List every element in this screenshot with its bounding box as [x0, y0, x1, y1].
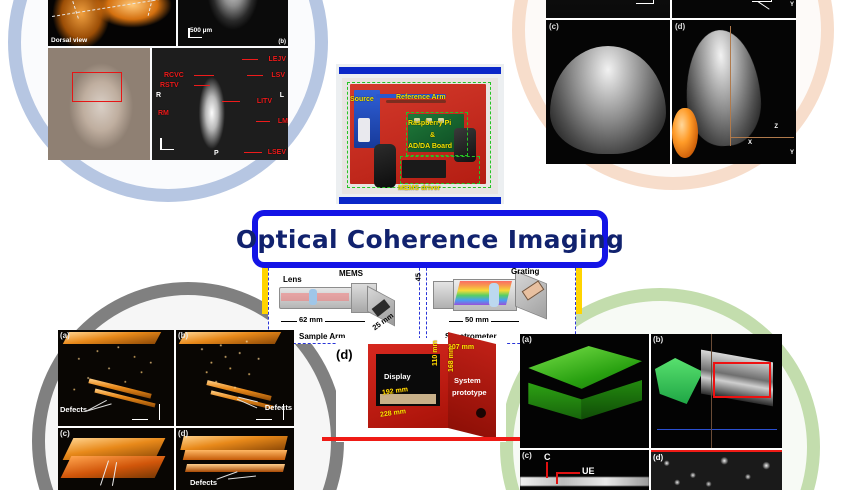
vessel-label-rstv: RSTV — [160, 82, 179, 89]
defects-volume-d: Defects (d) — [176, 428, 294, 490]
defects-inspection-figure: Defects (a) Defects (b) (c) — [58, 330, 294, 490]
source-annotation: Source — [350, 96, 374, 103]
oct-engine-photo: Source Reference Arm Raspberry Pi & AD/D… — [336, 64, 504, 204]
tissue-enface-speckle: (d) — [651, 450, 782, 490]
vascular-angiography: LEJV LSV RCVC RSTV LITV LM LSEV RM R L P — [152, 48, 288, 160]
vessel-label-lsv: LSV — [271, 72, 285, 79]
nail-bscan-labeled: Intermediate ventral Lunula Free Edge — [546, 0, 670, 18]
prototype-panel-label: (d) — [336, 348, 353, 361]
lens-label: Lens — [283, 275, 302, 284]
nail-3d-render: Z X Y (d) — [672, 20, 796, 164]
spectrometer-length-dim: 50 mm — [463, 315, 491, 324]
c-annotation: C — [544, 452, 551, 462]
scale-bar-label: 500 µm — [190, 28, 212, 35]
raspberry-pi-annotation: Raspberry Pi — [408, 120, 451, 127]
bl-panel-c-label: (c) — [60, 429, 70, 438]
tissue-3d-figure: (a) (b) (c) C UE (d) — [520, 334, 782, 490]
panel-c-label: (c) — [549, 23, 559, 31]
spectrometer-diagram: Grating 50 mm Spectrometer — [426, 258, 576, 344]
title-box: Optical Coherence Imaging — [252, 210, 608, 268]
tissue-3d-green-volume: (a) — [520, 334, 649, 448]
roi-rect — [713, 362, 771, 398]
prototype-label-line1: System — [454, 376, 481, 385]
tissue-bscan-labeled: (c) C UE — [520, 450, 649, 490]
axis-y-label-2: Y — [790, 150, 794, 156]
vessel-label-rm: RM — [158, 110, 169, 117]
defects-volume-a: Defects (a) — [58, 330, 174, 426]
mems-label: MEMS — [339, 269, 363, 278]
vessel-label-lm: LM — [278, 118, 288, 125]
axis-z-label-2: Z — [774, 124, 778, 130]
roi-box — [72, 72, 122, 102]
display-height-dim: 110 mm — [432, 340, 439, 366]
orientation-l: L — [280, 92, 284, 99]
vessel-label-lejv: LEJV — [268, 56, 286, 63]
br-panel-d-label: (d) — [653, 453, 663, 462]
bl-panel-d-label: (d) — [178, 429, 188, 438]
optics-diagram-row: Lens MEMS 62 mm 25 mm 45 Sample Arm Grat… — [268, 258, 576, 344]
defects-annotation-a: Defects — [60, 405, 87, 414]
axis-x-label-2: X — [748, 140, 752, 146]
orientation-p: P — [214, 150, 219, 157]
uterus-anus-oct: Uterus Anus 500 µm (b) — [178, 0, 288, 46]
bl-panel-a-label: (a) — [60, 331, 70, 340]
defects-annotation-d: Defects — [190, 478, 217, 487]
ue-annotation: UE — [582, 466, 595, 476]
bl-panel-b-label: (b) — [178, 331, 188, 340]
sample-arm-height-dim: 45 — [413, 273, 422, 281]
mouse-vasculature-figure: Dorsal view (a) Uterus Anus 500 µm (b) L… — [48, 0, 288, 160]
br-panel-c-label: (c) — [522, 451, 532, 460]
nail-3d-top: Z X Y — [672, 0, 796, 18]
vessel-label-litv: LITV — [257, 98, 272, 105]
nail-oct-figure: Intermediate ventral Lunula Free Edge Z … — [546, 0, 796, 164]
defects-volume-c: (c) — [58, 428, 174, 490]
vessel-label-rcvc: RCVC — [164, 72, 184, 79]
axis-y-label: Y — [790, 2, 794, 8]
defects-volume-b: Defects (b) — [176, 330, 294, 426]
ampersand-annotation: & — [430, 132, 435, 139]
br-panel-a-label: (a) — [522, 335, 532, 344]
display-label: Display — [384, 372, 411, 381]
panel-d-label: (d) — [675, 23, 685, 31]
tissue-3d-with-roi: (b) — [651, 334, 782, 448]
body-height-dim: 168 mm — [448, 346, 455, 372]
red-underline — [322, 437, 520, 441]
orientation-r: R — [156, 92, 161, 99]
sample-arm-length-dim: 62 mm — [297, 315, 325, 324]
br-panel-b-label: (b) — [653, 335, 663, 344]
addaboard-annotation: AD/DA Board — [408, 143, 452, 150]
reference-arm-annotation: Reference Arm — [396, 94, 446, 101]
tissue-volume-render: Dorsal view (a) — [48, 0, 176, 46]
mouse-photo — [48, 48, 150, 160]
prototype-label-line2: prototype — [452, 388, 487, 397]
nail-bscan-crosssection: (c) — [546, 20, 670, 164]
graphical-abstract: Dorsal view (a) Uterus Anus 500 µm (b) L… — [0, 0, 844, 490]
dorsal-view-label: Dorsal view — [51, 38, 87, 45]
panel-b-label: (b) — [278, 39, 286, 45]
page-title: Optical Coherence Imaging — [236, 225, 624, 254]
mems-driver-annotation: MEMS driver — [398, 185, 440, 192]
grating-label: Grating — [511, 267, 539, 276]
vessel-label-lsev: LSEV — [268, 149, 286, 156]
system-prototype-photo: (d) Display System prototype 107 mm 110 … — [336, 338, 506, 442]
defects-annotation-b: Defects — [265, 403, 292, 412]
